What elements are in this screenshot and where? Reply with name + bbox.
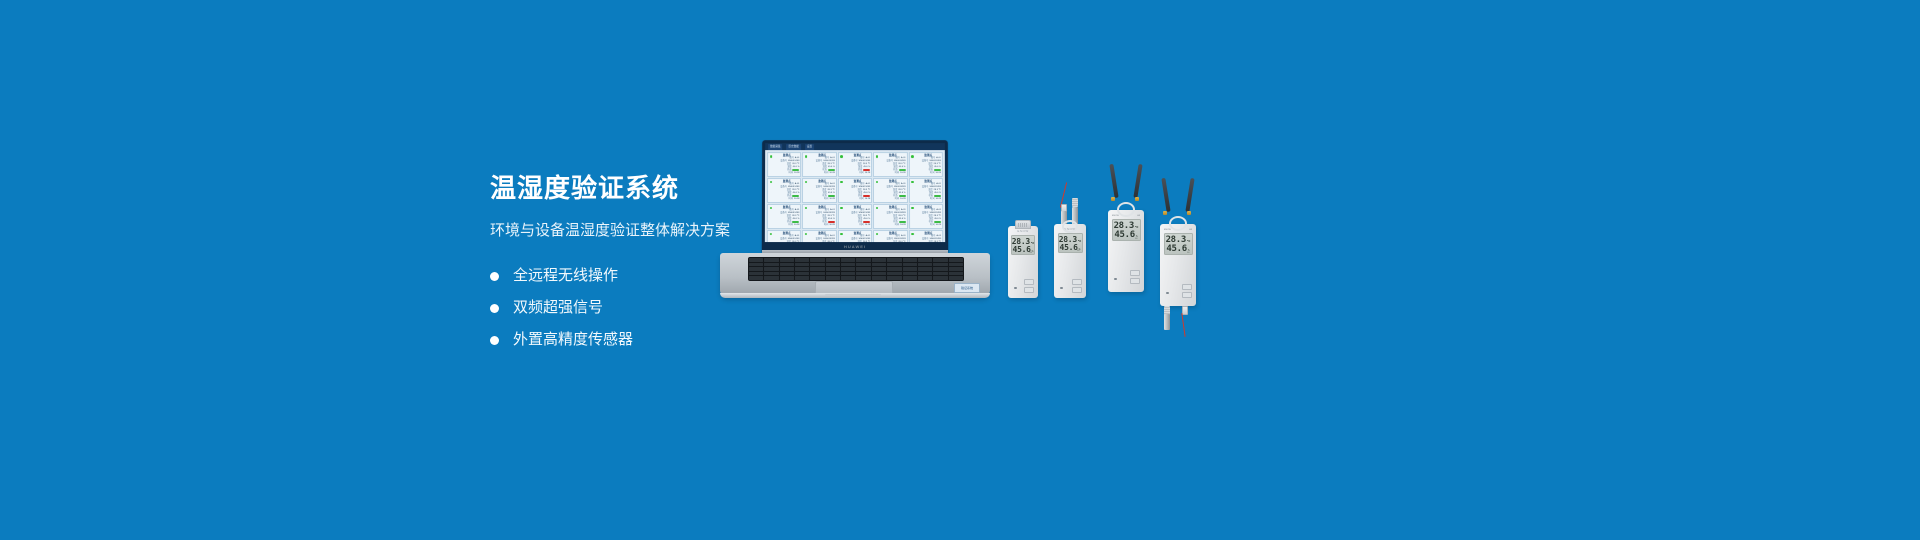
card-status-led-icon: [840, 181, 842, 183]
keyboard-key[interactable]: [764, 263, 778, 267]
keyboard-key[interactable]: [780, 267, 794, 271]
card-field-key: 时间: [824, 172, 828, 175]
keyboard-key[interactable]: [903, 267, 917, 271]
lcd-temperature-unit: ℃: [1031, 242, 1034, 245]
device-lcd-display: 28.3 ℃ 45.6 % RH: [1164, 233, 1193, 255]
laptop-keyboard[interactable]: [748, 257, 964, 281]
keyboard-row: [749, 272, 963, 276]
device-lcd-display: 28.3 ℃ 45.6 % RH: [1011, 235, 1035, 255]
card-field-value: 10:28: [829, 172, 834, 175]
card-status-led-icon: [805, 155, 808, 157]
device-button-group[interactable]: [1182, 284, 1192, 298]
card-status-led-icon: [911, 155, 914, 157]
device-button-down[interactable]: [1182, 292, 1192, 298]
product-banner: 温湿度验证系统 环境与设备温湿度验证整体解决方案 全远程无线操作 双频超强信号 …: [0, 0, 1920, 540]
card-field-row: 时间10:28: [774, 224, 799, 227]
keyboard-key[interactable]: [918, 263, 932, 267]
card-normal-pill: [934, 195, 941, 197]
lcd-footer-label: RH: [1077, 250, 1079, 252]
card-field-value: 10:28: [865, 172, 870, 175]
keyboard-key[interactable]: [856, 276, 870, 280]
card-normal-pill: [934, 169, 941, 171]
keyboard-key[interactable]: [872, 263, 886, 267]
card-normal-pill: [899, 221, 906, 223]
device-lineup: ENOW 28.3 ℃ 45.6 % RH: [1000, 175, 1230, 310]
antenna-left-base: [1111, 197, 1115, 201]
device-button-down[interactable]: [1130, 278, 1140, 284]
antenna-right-icon: [1185, 178, 1194, 212]
keyboard-key[interactable]: [749, 263, 763, 267]
keyboard-key[interactable]: [856, 263, 870, 267]
card-normal-pill: [828, 169, 835, 171]
keyboard-key[interactable]: [841, 267, 855, 271]
sensor-wire: [1181, 313, 1186, 337]
lcd-humidity-value: 45.6: [1166, 245, 1186, 254]
monitor-card[interactable]: 监测点编号A-01设备号SN0015283温度28.3 ℃湿度45.6 %状态时…: [838, 230, 872, 242]
lcd-temperature-unit: ℃: [1135, 226, 1138, 229]
card-status-led-icon: [770, 155, 773, 157]
card-field-value: 10:28: [936, 198, 941, 201]
card-normal-pill: [792, 221, 799, 223]
keyboard-key[interactable]: [872, 272, 886, 276]
card-field-key: 时间: [895, 172, 899, 175]
card-status-led-icon: [911, 233, 914, 236]
keyboard-key[interactable]: [933, 267, 947, 271]
card-field-row: 时间10:28: [774, 198, 799, 201]
keyboard-key[interactable]: [918, 276, 932, 280]
keyboard-key[interactable]: [918, 267, 932, 271]
keyboard-key[interactable]: [810, 276, 824, 280]
keyboard-key[interactable]: [780, 258, 794, 262]
card-status-led-icon: [805, 181, 808, 183]
card-normal-pill: [899, 195, 906, 197]
laptop-illustration: 数据采集 历史数据 设置 监测点编号A-01设备号SN0015283温度28.3…: [720, 140, 990, 300]
card-field-key: 时间: [824, 224, 828, 227]
card-status-led-icon: [876, 181, 879, 183]
card-field-row: 时间10:28: [916, 198, 941, 201]
keyboard-key[interactable]: [749, 258, 763, 262]
keyboard-key[interactable]: [949, 258, 963, 262]
monitor-card[interactable]: 监测点编号A-01设备号SN0015283温度28.3 ℃湿度45.6 %状态时…: [873, 178, 907, 203]
antenna-right-base: [1135, 197, 1139, 201]
feature-label: 外置高精度传感器: [513, 330, 633, 350]
menu-item-acquire[interactable]: 数据采集: [768, 144, 782, 150]
keyboard-key[interactable]: [872, 267, 886, 271]
keyboard-key[interactable]: [903, 263, 917, 267]
monitor-card[interactable]: 监测点编号A-01设备号SN0015283温度28.3 ℃湿度45.6 %状态时…: [802, 230, 837, 242]
device-handheld-logger-basic[interactable]: ENOW 28.3 ℃ 45.6 % RH: [1008, 226, 1038, 298]
lcd-footer-label: RH: [1030, 252, 1032, 254]
monitor-card[interactable]: 监测点编号A-01设备号SN0015283温度28.3 ℃湿度45.6 %状态时…: [909, 230, 944, 242]
card-field-key: 时间: [859, 198, 863, 201]
hanger-hook-icon: [1015, 220, 1031, 229]
laptop-front-lip: [720, 293, 990, 298]
card-field-row: 时间10:28: [880, 198, 905, 201]
list-item: 双频超强信号: [490, 298, 910, 318]
card-field-value: 10:28: [829, 198, 834, 201]
keyboard-key[interactable]: [903, 276, 917, 280]
keyboard-key[interactable]: [749, 267, 763, 271]
antenna-left-base: [1163, 211, 1167, 215]
keyboard-key[interactable]: [903, 258, 917, 262]
card-field-row: 时间10:28: [845, 172, 870, 175]
monitor-card[interactable]: 监测点编号A-01设备号SN0015283温度28.3 ℃湿度45.6 %状态时…: [767, 178, 801, 203]
card-field-key: 时间: [789, 172, 793, 175]
card-field-row: 时间10:28: [809, 224, 834, 227]
device-button-up[interactable]: [1024, 279, 1034, 285]
card-field-value: 10:28: [829, 224, 834, 227]
keyboard-row: [749, 267, 963, 271]
device-button-down[interactable]: [1024, 287, 1034, 293]
card-field-key: 时间: [895, 224, 899, 227]
feature-label: 双频超强信号: [513, 298, 603, 318]
monitor-card[interactable]: 监测点编号A-01设备号SN0015283温度28.3 ℃湿度45.6 %状态时…: [802, 204, 836, 229]
keyboard-key[interactable]: [949, 272, 963, 276]
keyboard-key[interactable]: [780, 263, 794, 267]
keyboard-row: [749, 258, 963, 262]
keyboard-key[interactable]: [764, 272, 778, 276]
card-field-value: 10:28: [865, 224, 870, 227]
menu-item-settings[interactable]: 设置: [805, 144, 814, 150]
keyboard-key[interactable]: [795, 272, 809, 276]
card-field-row: 时间10:28: [774, 172, 799, 175]
keyboard-key[interactable]: [887, 267, 901, 271]
antenna-label-left: ENOW: [1112, 215, 1119, 217]
keyboard-key[interactable]: [749, 276, 763, 280]
monitoring-app: 数据采集 历史数据 设置 监测点编号A-01设备号SN0015283温度28.3…: [765, 143, 945, 242]
bullet-dot-icon: [490, 336, 499, 345]
lcd-temperature-unit: ℃: [1187, 240, 1190, 243]
laptop-lid: 数据采集 历史数据 设置 监测点编号A-01设备号SN0015283温度28.3…: [762, 140, 948, 252]
device-button-group[interactable]: [1024, 279, 1034, 293]
keyboard-key[interactable]: [841, 263, 855, 267]
status-led-icon: [1014, 287, 1017, 290]
card-field-key: 时间: [930, 172, 934, 175]
keyboard-key[interactable]: [887, 258, 901, 262]
monitor-card[interactable]: 监测点编号A-01设备号SN0015283温度28.3 ℃湿度45.6 %状态时…: [767, 230, 802, 242]
keyboard-key[interactable]: [949, 267, 963, 271]
hanger-ring-icon: [1062, 220, 1078, 233]
keyboard-key[interactable]: [780, 276, 794, 280]
antenna-left-icon: [1161, 178, 1170, 212]
card-status-led-icon: [911, 181, 914, 183]
antenna-right-icon: [1133, 164, 1142, 198]
card-alarm-pill: [863, 195, 870, 197]
keyboard-key[interactable]: [764, 258, 778, 262]
card-field-row: 时间10:28: [916, 224, 941, 227]
status-led-icon: [1166, 292, 1169, 295]
keyboard-key[interactable]: [887, 263, 901, 267]
keyboard-key[interactable]: [795, 267, 809, 271]
monitor-card[interactable]: 监测点编号A-01设备号SN0015283温度28.3 ℃湿度45.6 %状态时…: [767, 204, 801, 229]
keyboard-key[interactable]: [795, 263, 809, 267]
keyboard-key[interactable]: [887, 272, 901, 276]
card-field-value: 10:28: [794, 198, 799, 201]
keyboard-key[interactable]: [933, 276, 947, 280]
keyboard-key[interactable]: [933, 272, 947, 276]
antenna-label-right: H8: [1189, 229, 1192, 231]
probe-connector: [1182, 306, 1188, 315]
card-field-value: 10:28: [794, 172, 799, 175]
device-handheld-logger-probe[interactable]: ENOW 28.3 ℃ 45.6 % RH: [1054, 224, 1086, 298]
monitor-card[interactable]: 监测点编号A-01设备号SN0015283温度28.3 ℃湿度45.6 %状态时…: [909, 204, 944, 229]
card-status-led-icon: [805, 207, 808, 210]
device-button-up[interactable]: [1072, 279, 1082, 285]
card-alarm-pill: [863, 169, 870, 171]
device-button-down[interactable]: [1072, 287, 1082, 293]
card-field-value: 10:28: [900, 224, 905, 227]
keyboard-key[interactable]: [856, 267, 870, 271]
status-led-icon: [1060, 287, 1063, 290]
lcd-humidity-value: 45.6: [1060, 244, 1078, 252]
card-status-led-icon: [805, 233, 808, 236]
card-field-key: 时间: [895, 198, 899, 201]
monitor-card-grid: 监测点编号A-01设备号SN0015283温度28.3 ℃湿度45.6 %状态时…: [765, 150, 945, 242]
monitor-card[interactable]: 监测点编号A-01设备号SN0015283温度28.3 ℃湿度45.6 %状态时…: [909, 178, 943, 203]
keyboard-key[interactable]: [764, 267, 778, 271]
lcd-humidity-value: 45.6: [1114, 231, 1134, 240]
device-button-group[interactable]: [1130, 270, 1140, 284]
card-field-row: 时间10:28: [916, 172, 941, 175]
laptop-base: 验证系统: [720, 253, 990, 297]
card-status-led-icon: [770, 181, 773, 183]
keyboard-key[interactable]: [826, 258, 840, 262]
hanger-ring-icon: [1169, 216, 1187, 231]
hanger-ring-icon: [1117, 202, 1135, 217]
keyboard-key[interactable]: [856, 272, 870, 276]
keyboard-key[interactable]: [841, 272, 855, 276]
feature-label: 全远程无线操作: [513, 266, 618, 286]
keyboard-key[interactable]: [810, 272, 824, 276]
card-field-row: 时间10:28: [809, 172, 834, 175]
card-field-value: 10:28: [936, 224, 941, 227]
device-lcd-display: 28.3 ℃ 45.6 % RH: [1058, 233, 1083, 253]
laptop-lip-notch: [825, 294, 881, 296]
keyboard-key[interactable]: [903, 272, 917, 276]
card-field-key: 时间: [859, 172, 863, 175]
menu-item-history[interactable]: 历史数据: [786, 144, 800, 150]
monitor-card[interactable]: 监测点编号A-01设备号SN0015283温度28.3 ℃湿度45.6 %状态时…: [838, 204, 872, 229]
keyboard-key[interactable]: [795, 276, 809, 280]
card-field-key: 时间: [824, 198, 828, 201]
device-wireless-logger-b[interactable]: ENOW H8 28.3 ℃ 45.6 % RH: [1160, 224, 1196, 306]
card-status-led-icon: [876, 155, 878, 157]
keyboard-key[interactable]: [764, 276, 778, 280]
keyboard-key[interactable]: [933, 263, 947, 267]
keyboard-key[interactable]: [918, 258, 932, 262]
card-status-led-icon: [876, 233, 879, 236]
card-status-led-icon: [769, 233, 772, 236]
antenna-left-icon: [1109, 164, 1118, 198]
keyboard-key[interactable]: [887, 276, 901, 280]
monitor-card[interactable]: 监测点编号A-01设备号SN0015283温度28.3 ℃湿度45.6 %状态时…: [767, 152, 801, 177]
card-status-led-icon: [840, 155, 842, 157]
antenna-label-right: H8: [1137, 215, 1140, 217]
device-button-up[interactable]: [1182, 284, 1192, 290]
keyboard-key[interactable]: [795, 258, 809, 262]
card-normal-pill: [934, 221, 941, 223]
lcd-footer-label: RH: [1187, 252, 1189, 254]
humidity-probe: [1164, 314, 1170, 330]
card-field-value: 10:28: [900, 198, 905, 201]
keyboard-key[interactable]: [826, 263, 840, 267]
list-item: 外置高精度传感器: [490, 330, 910, 350]
monitor-card[interactable]: 监测点编号A-01设备号SN0015283温度28.3 ℃湿度45.6 %状态时…: [873, 152, 907, 177]
monitor-card[interactable]: 监测点编号A-01设备号SN0015283温度28.3 ℃湿度45.6 %状态时…: [909, 152, 943, 177]
card-field-value: 10:28: [935, 172, 940, 175]
card-field-row: 时间10:28: [845, 224, 870, 227]
card-normal-pill: [792, 169, 799, 171]
card-status-led-icon: [769, 207, 772, 210]
card-field-value: 10:28: [865, 198, 870, 201]
card-status-led-icon: [840, 207, 843, 210]
monitor-card[interactable]: 监测点编号A-01设备号SN0015283温度28.3 ℃湿度45.6 %状态时…: [873, 204, 907, 229]
monitor-card[interactable]: 监测点编号A-01设备号SN0015283温度28.3 ℃湿度45.6 %状态时…: [873, 230, 908, 242]
monitor-card[interactable]: 监测点编号A-01设备号SN0015283温度28.3 ℃湿度45.6 %状态时…: [802, 152, 836, 177]
card-alarm-pill: [828, 221, 835, 223]
card-status-led-icon: [840, 233, 843, 236]
card-field-row: 时间10:28: [845, 198, 870, 201]
keyboard-key[interactable]: [933, 258, 947, 262]
keyboard-key[interactable]: [780, 272, 794, 276]
keyboard-key[interactable]: [826, 272, 840, 276]
monitor-card[interactable]: 监测点编号A-01设备号SN0015283温度28.3 ℃湿度45.6 %状态时…: [838, 152, 872, 177]
device-button-group[interactable]: [1072, 279, 1082, 293]
keyboard-key[interactable]: [749, 272, 763, 276]
card-normal-pill: [828, 195, 835, 197]
lcd-footer-label: RH: [1135, 238, 1137, 240]
keyboard-key[interactable]: [918, 272, 932, 276]
keyboard-key[interactable]: [826, 267, 840, 271]
laptop-sticker: 验证系统: [954, 283, 980, 293]
card-field-key: 时间: [930, 224, 934, 227]
humidity-probe-cap-icon: [1072, 198, 1078, 207]
lcd-temperature-unit: ℃: [1078, 240, 1081, 243]
keyboard-row: [749, 263, 963, 267]
lcd-humidity-value: 45.6: [1013, 246, 1031, 254]
status-led-icon: [1114, 278, 1117, 281]
keyboard-key[interactable]: [810, 267, 824, 271]
keyboard-key[interactable]: [872, 258, 886, 262]
bullet-dot-icon: [490, 304, 499, 313]
antenna-right-base: [1187, 211, 1191, 215]
card-status-led-icon: [911, 207, 914, 210]
device-button-up[interactable]: [1130, 270, 1140, 276]
card-normal-pill: [899, 169, 906, 171]
card-alarm-pill: [863, 221, 870, 223]
device-lcd-display: 28.3 ℃ 45.6 % RH: [1112, 219, 1141, 241]
monitor-card[interactable]: 监测点编号A-01设备号SN0015283温度28.3 ℃湿度45.6 %状态时…: [838, 178, 872, 203]
card-field-key: 时间: [789, 198, 793, 201]
keyboard-key[interactable]: [949, 276, 963, 280]
keyboard-key[interactable]: [949, 263, 963, 267]
app-menubar: 数据采集 历史数据 设置: [765, 143, 945, 150]
card-normal-pill: [792, 195, 799, 197]
monitor-card[interactable]: 监测点编号A-01设备号SN0015283温度28.3 ℃湿度45.6 %状态时…: [802, 178, 836, 203]
card-field-row: 时间10:28: [880, 224, 905, 227]
keyboard-key[interactable]: [856, 258, 870, 262]
card-field-value: 10:28: [794, 224, 799, 227]
keyboard-key[interactable]: [841, 276, 855, 280]
card-field-key: 时间: [859, 224, 863, 227]
keyboard-key[interactable]: [872, 276, 886, 280]
card-status-led-icon: [876, 207, 879, 210]
card-field-row: 时间10:28: [809, 198, 834, 201]
card-field-key: 时间: [788, 224, 792, 227]
keyboard-key[interactable]: [810, 263, 824, 267]
device-wireless-logger-a[interactable]: ENOW H8 28.3 ℃ 45.6 % RH: [1108, 210, 1144, 292]
laptop-screen: 数据采集 历史数据 设置 监测点编号A-01设备号SN0015283温度28.3…: [765, 143, 945, 242]
keyboard-key[interactable]: [810, 258, 824, 262]
hook-grill-icon: [1018, 223, 1028, 227]
card-field-value: 10:28: [900, 172, 905, 175]
bullet-dot-icon: [490, 272, 499, 281]
keyboard-row: [749, 276, 963, 280]
keyboard-key[interactable]: [841, 258, 855, 262]
antenna-label-left: ENOW: [1164, 229, 1171, 231]
card-field-key: 时间: [930, 198, 934, 201]
keyboard-key[interactable]: [826, 276, 840, 280]
card-field-row: 时间10:28: [880, 172, 905, 175]
